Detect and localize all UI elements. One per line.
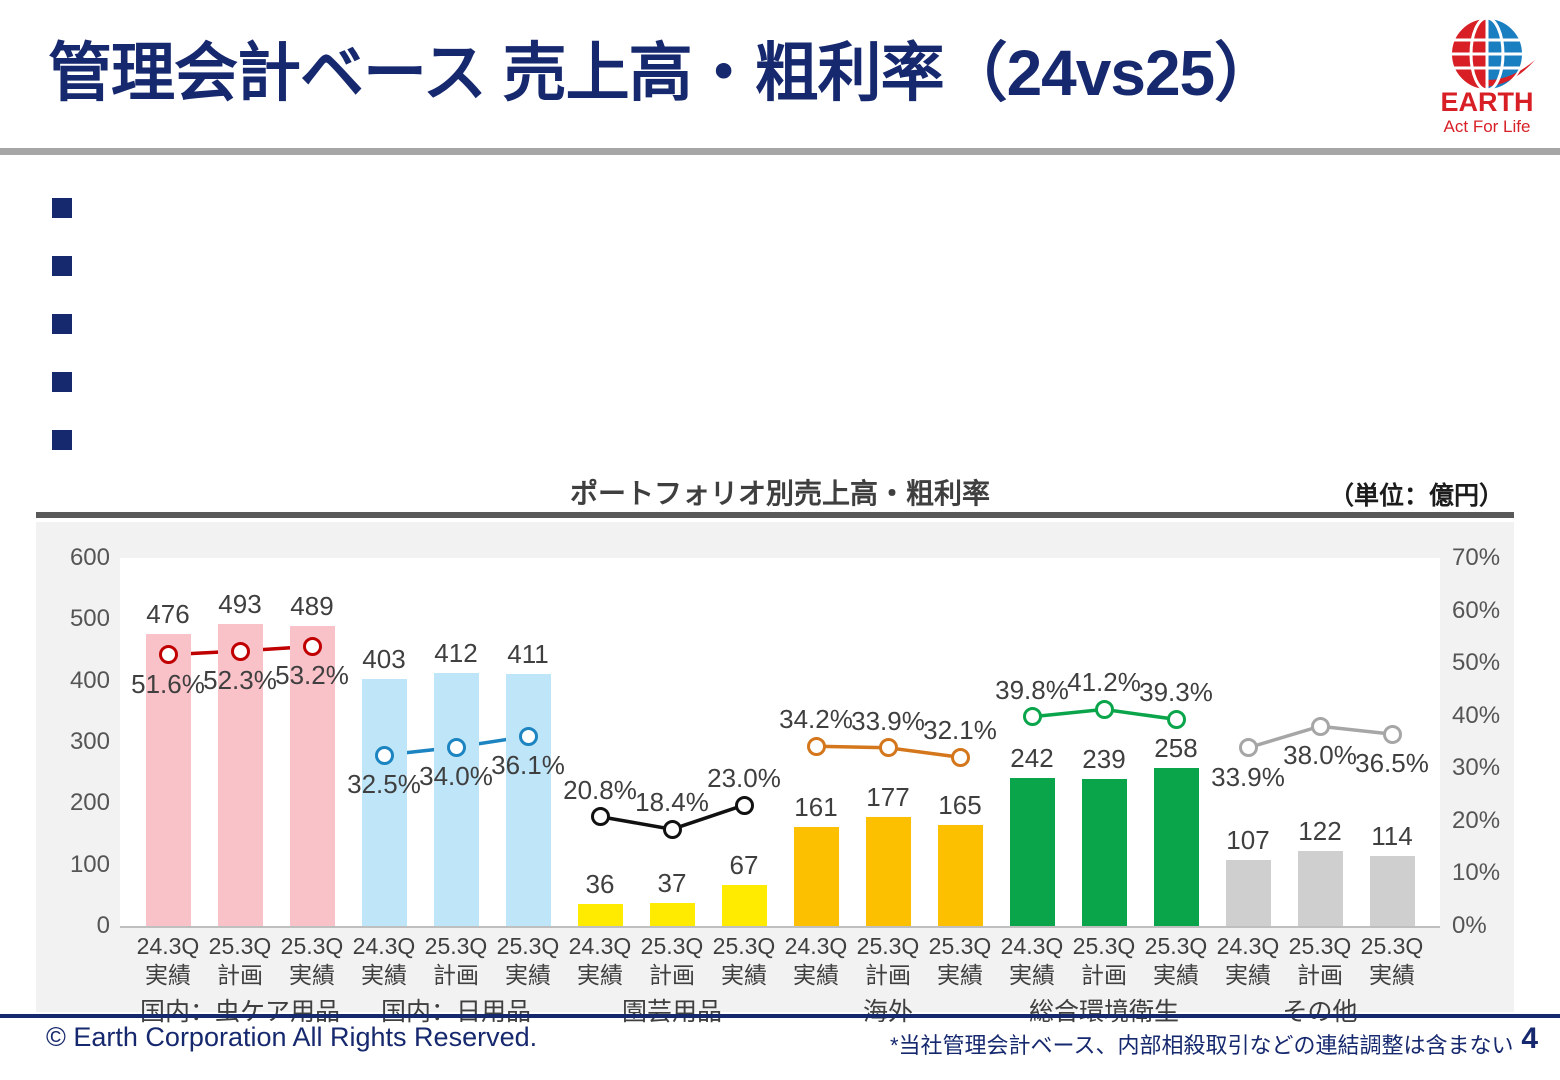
y-axis-right-tick: 50% [1452, 649, 1522, 677]
bar [1298, 851, 1343, 926]
y-axis-right-tick: 10% [1452, 859, 1522, 887]
line-marker [1167, 710, 1186, 729]
line-marker [1239, 738, 1258, 757]
chart-unit-label: （単位：億円） [1329, 476, 1504, 512]
slide-header: 管理会計ベース 売上高・粗利率（24vs25） EARTH Act For Li… [0, 0, 1560, 150]
margin-percent-label: 39.3% [1121, 677, 1231, 708]
margin-percent-label: 23.0% [689, 763, 799, 794]
y-axis-right-tick: 20% [1452, 807, 1522, 835]
line-marker [807, 737, 826, 756]
logo-artwork: EARTH Act For Life [1425, 8, 1550, 138]
x-tick-type: 実績 [1347, 961, 1437, 990]
bar [650, 903, 695, 926]
globe-icon [1451, 18, 1535, 90]
header-divider [0, 148, 1560, 155]
x-axis-tick-label: 25.3Q実績 [1347, 932, 1437, 990]
summary-bullet-list [52, 186, 1472, 476]
line-marker [1311, 717, 1330, 736]
bullet-row [52, 244, 1472, 302]
bar [362, 679, 407, 926]
footnote-text: *当社管理会計ベース、内部相殺取引などの連結調整は含まない [890, 1028, 1513, 1060]
line-marker [159, 645, 178, 664]
bullet-row [52, 418, 1472, 476]
bar [866, 817, 911, 926]
bar [1226, 860, 1271, 926]
square-bullet-icon [52, 314, 72, 334]
bar-value-label: 258 [1131, 733, 1221, 764]
portfolio-chart: 47649348951.6%52.3%53.2%40341241132.5%34… [36, 522, 1514, 1012]
square-bullet-icon [52, 372, 72, 392]
line-marker [519, 727, 538, 746]
x-axis-group-label: その他 [1170, 992, 1470, 1028]
line-marker [447, 738, 466, 757]
line-marker [663, 820, 682, 839]
bar [1370, 856, 1415, 926]
y-axis-right-tick: 0% [1452, 912, 1522, 940]
bar-value-label: 114 [1347, 821, 1437, 852]
line-marker [951, 748, 970, 767]
page-title: 管理会計ベース 売上高・粗利率（24vs25） [48, 22, 1277, 114]
bar [1010, 778, 1055, 926]
bar [722, 885, 767, 926]
line-marker [231, 642, 250, 661]
bullet-row [52, 360, 1472, 418]
square-bullet-icon [52, 198, 72, 218]
y-axis-left-tick: 0 [50, 912, 110, 940]
y-axis-left-tick: 600 [50, 544, 110, 572]
plot-area: 47649348951.6%52.3%53.2%40341241132.5%34… [120, 558, 1440, 926]
line-marker [375, 746, 394, 765]
line-marker [591, 807, 610, 826]
margin-percent-label: 32.1% [905, 715, 1015, 746]
y-axis-right-tick: 70% [1452, 544, 1522, 572]
bar [938, 825, 983, 926]
line-marker [879, 738, 898, 757]
chart-divider [36, 512, 1514, 518]
bar [578, 904, 623, 926]
margin-percent-label: 36.5% [1337, 748, 1447, 779]
square-bullet-icon [52, 256, 72, 276]
y-axis-left-tick: 100 [50, 851, 110, 879]
x-tick-period: 25.3Q [1347, 932, 1437, 961]
page-number: 4 [1521, 1022, 1538, 1056]
line-marker [1383, 725, 1402, 744]
square-bullet-icon [52, 430, 72, 450]
bar [1154, 768, 1199, 926]
y-axis-left-tick: 200 [50, 789, 110, 817]
x-axis-labels: 国内：虫ケア用品国内：日用品園芸用品海外総合環境衛生その他24.3Q実績25.3… [120, 928, 1440, 1012]
line-marker [1095, 700, 1114, 719]
copyright-text: © Earth Corporation All Rights Reserved. [46, 1022, 537, 1053]
bar [506, 674, 551, 926]
bar [794, 827, 839, 926]
footer-divider [0, 1014, 1560, 1018]
bullet-row [52, 186, 1472, 244]
y-axis-left-tick: 500 [50, 605, 110, 633]
bar-value-label: 411 [483, 639, 573, 670]
y-axis-right-tick: 60% [1452, 597, 1522, 625]
bar-value-label: 165 [915, 790, 1005, 821]
line-marker [1023, 707, 1042, 726]
bullet-row [52, 302, 1472, 360]
logo-tagline: Act For Life [1444, 117, 1531, 136]
bar-value-label: 67 [699, 850, 789, 881]
y-axis-left-tick: 400 [50, 667, 110, 695]
logo-wordmark: EARTH [1441, 87, 1534, 117]
y-axis-left-tick: 300 [50, 728, 110, 756]
y-axis-right-tick: 40% [1452, 702, 1522, 730]
line-marker [303, 637, 322, 656]
bar [1082, 779, 1127, 926]
earth-globe-logo: EARTH Act For Life [1425, 8, 1550, 138]
bar-value-label: 489 [267, 591, 357, 622]
line-marker [735, 796, 754, 815]
y-axis-right-tick: 30% [1452, 754, 1522, 782]
chart-title: ポートフォリオ別売上高・粗利率 [0, 472, 1560, 512]
bar [434, 673, 479, 926]
